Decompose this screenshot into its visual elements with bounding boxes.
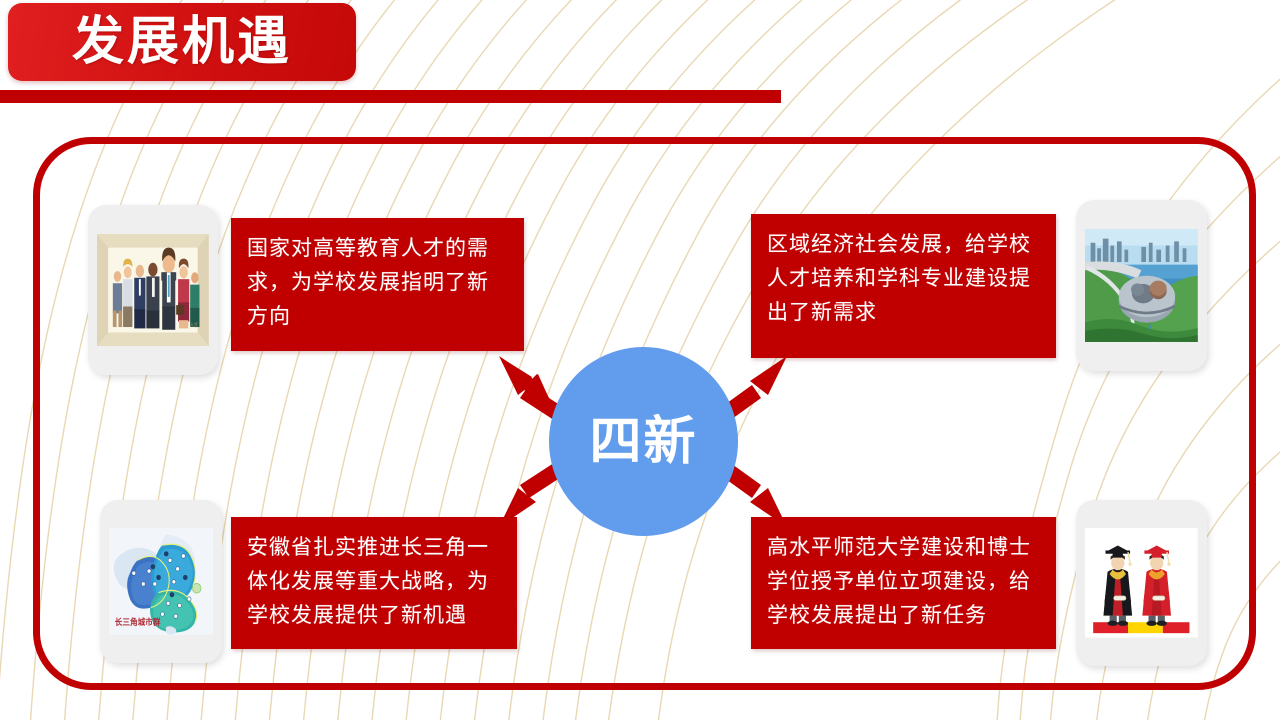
info-box-top-right[interactable]: 区域经济社会发展，给学校人才培养和学科专业建设提出了新需求 [751, 214, 1056, 358]
info-box-bottom-left[interactable]: 安徽省扎实推进长三角一体化发展等重大战略，为学校发展提供了新机遇 [231, 517, 517, 649]
thumbnail-card-bottom-left[interactable]: 长三角城市群 [100, 500, 222, 663]
header-divider [0, 90, 781, 103]
info-box-top-left[interactable]: 国家对高等教育人才的需求，为学校发展指明了新方向 [231, 218, 524, 351]
info-box-top-left-text: 国家对高等教育人才的需求，为学校发展指明了新方向 [247, 236, 489, 328]
thumbnail-card-top-right[interactable] [1076, 200, 1207, 371]
info-box-top-right-text: 区域经济社会发展，给学校人才培养和学科专业建设提出了新需求 [767, 232, 1031, 324]
city-aerial-photo [1085, 229, 1198, 342]
center-node[interactable]: 四新 [549, 347, 738, 536]
slide-canvas: 发展机遇 [0, 0, 1280, 720]
svg-text:长三角城市群: 长三角城市群 [114, 616, 160, 627]
info-box-bottom-right[interactable]: 高水平师范大学建设和博士学位授予单位立项建设，给学校发展提出了新任务 [751, 517, 1056, 649]
thumbnail-card-bottom-right[interactable] [1076, 500, 1207, 666]
center-node-label: 四新 [589, 416, 697, 468]
graduates-illustration [1085, 528, 1198, 638]
slide-title-badge: 发展机遇 [8, 3, 356, 81]
info-box-bottom-left-text: 安徽省扎实推进长三角一体化发展等重大战略，为学校发展提供了新机遇 [247, 535, 489, 627]
page-title: 发展机遇 [72, 16, 292, 68]
thumbnail-card-top-left[interactable]: 人才 [88, 205, 218, 375]
group-of-people-illustration: 人才 [97, 234, 209, 346]
yangtze-delta-map: 长三角城市群 [109, 528, 214, 636]
info-box-bottom-right-text: 高水平师范大学建设和博士学位授予单位立项建设，给学校发展提出了新任务 [767, 535, 1031, 627]
